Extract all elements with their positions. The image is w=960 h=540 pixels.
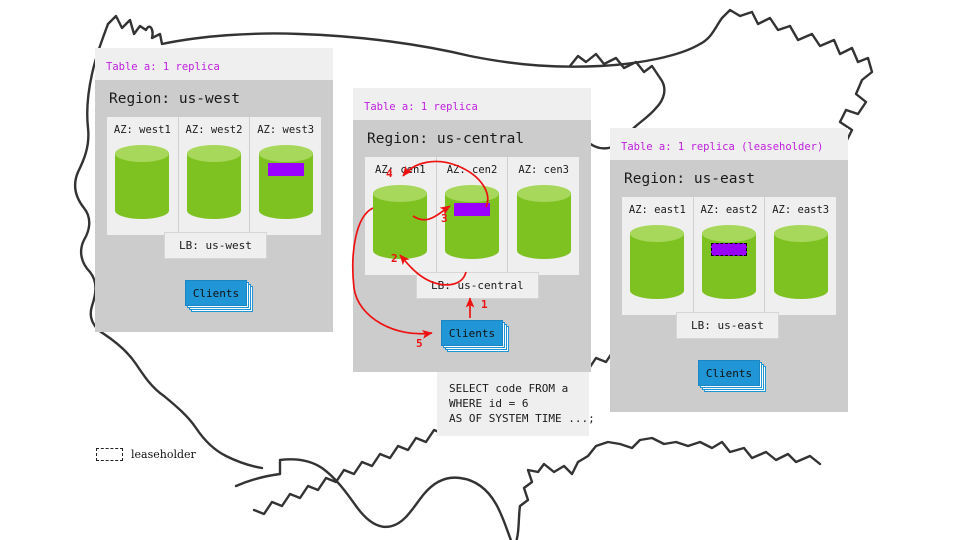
cylinder-top xyxy=(517,185,571,202)
clients-label-us-east: Clients xyxy=(698,360,760,386)
cylinder-top xyxy=(630,225,684,242)
region-title-us-central: Region: us-central xyxy=(353,120,591,157)
region-title-us-east: Region: us-east xyxy=(610,160,848,197)
usa-south-border-path xyxy=(236,459,514,540)
az-row-us-west: AZ: west1 AZ: west2 AZ: west3 xyxy=(107,117,321,235)
az-label-west1: AZ: west1 xyxy=(114,124,171,136)
az-label-east1: AZ: east1 xyxy=(629,204,686,216)
clients-stack-us-west[interactable]: Clients xyxy=(185,280,247,306)
cylinder-top xyxy=(373,185,427,202)
leaseholder-swatch-icon xyxy=(96,448,123,461)
node-cylinder-cen2[interactable] xyxy=(445,185,499,259)
node-cylinder-east3[interactable] xyxy=(774,225,828,299)
az-label-cen2: AZ: cen2 xyxy=(447,164,498,176)
diagram-canvas: Table a: 1 replica Region: us-west AZ: w… xyxy=(0,0,960,540)
az-label-west3: AZ: west3 xyxy=(257,124,314,136)
load-balancer-us-central[interactable]: LB: us-central xyxy=(416,272,539,299)
load-balancer-us-west[interactable]: LB: us-west xyxy=(164,232,267,259)
cylinder-top xyxy=(774,225,828,242)
flow-number-3: 3 xyxy=(441,212,448,225)
az-cell-east3[interactable]: AZ: east3 xyxy=(765,197,836,315)
usa-gulf-coast-path xyxy=(514,438,820,540)
leaseholder-range-east2 xyxy=(711,243,747,256)
legend-label: leaseholder xyxy=(131,448,196,461)
clients-label-us-west: Clients xyxy=(185,280,247,306)
replica-banner-us-central: Table a: 1 replica xyxy=(353,88,591,120)
node-cylinder-west1[interactable] xyxy=(115,145,169,219)
az-label-cen3: AZ: cen3 xyxy=(518,164,569,176)
sql-line-1: SELECT code FROM a xyxy=(449,381,577,396)
replica-banner-us-west: Table a: 1 replica xyxy=(95,48,333,80)
sql-line-2: WHERE id = 6 xyxy=(449,396,577,411)
az-label-east3: AZ: east3 xyxy=(772,204,829,216)
cylinder-top xyxy=(115,145,169,162)
node-cylinder-cen3[interactable] xyxy=(517,185,571,259)
replica-banner-label: Table a: 1 replica (leaseholder) xyxy=(621,141,823,153)
node-cylinder-west3[interactable] xyxy=(259,145,313,219)
az-cell-cen3[interactable]: AZ: cen3 xyxy=(508,157,579,275)
flow-number-5: 5 xyxy=(416,337,423,350)
node-cylinder-west2[interactable] xyxy=(187,145,241,219)
az-cell-east2[interactable]: AZ: east2 xyxy=(694,197,766,315)
cylinder-top xyxy=(187,145,241,162)
replica-banner-us-east: Table a: 1 replica (leaseholder) xyxy=(610,128,848,160)
az-cell-east1[interactable]: AZ: east1 xyxy=(622,197,694,315)
region-title-us-west: Region: us-west xyxy=(95,80,333,117)
cylinder-top xyxy=(445,185,499,202)
clients-label-us-central: Clients xyxy=(441,320,503,346)
node-cylinder-east1[interactable] xyxy=(630,225,684,299)
cylinder-top xyxy=(259,145,313,162)
sql-query-box: SELECT code FROM a WHERE id = 6 AS OF SY… xyxy=(437,372,589,436)
clients-stack-us-central[interactable]: Clients xyxy=(441,320,503,346)
replica-banner-label: Table a: 1 replica xyxy=(106,61,220,73)
load-balancer-us-east[interactable]: LB: us-east xyxy=(676,312,779,339)
node-cylinder-east2[interactable] xyxy=(702,225,756,299)
az-label-cen1: AZ: cen1 xyxy=(375,164,426,176)
az-cell-west2[interactable]: AZ: west2 xyxy=(179,117,251,235)
replica-banner-label: Table a: 1 replica xyxy=(364,101,478,113)
az-cell-west3[interactable]: AZ: west3 xyxy=(250,117,321,235)
legend: leaseholder xyxy=(96,448,196,461)
az-cell-west1[interactable]: AZ: west1 xyxy=(107,117,179,235)
flow-number-2: 2 xyxy=(391,252,398,265)
node-cylinder-cen1[interactable] xyxy=(373,185,427,259)
flow-number-4: 4 xyxy=(386,167,393,180)
replica-range-west3 xyxy=(268,163,304,176)
clients-stack-us-east[interactable]: Clients xyxy=(698,360,760,386)
replica-range-cen2 xyxy=(454,203,490,216)
az-label-west2: AZ: west2 xyxy=(186,124,243,136)
flow-number-1: 1 xyxy=(481,298,488,311)
az-cell-cen1[interactable]: AZ: cen1 xyxy=(365,157,437,275)
az-row-us-east: AZ: east1 AZ: east2 AZ: east3 xyxy=(622,197,836,315)
cylinder-top xyxy=(702,225,756,242)
sql-line-3: AS OF SYSTEM TIME ...; xyxy=(449,411,577,426)
az-label-east2: AZ: east2 xyxy=(701,204,758,216)
